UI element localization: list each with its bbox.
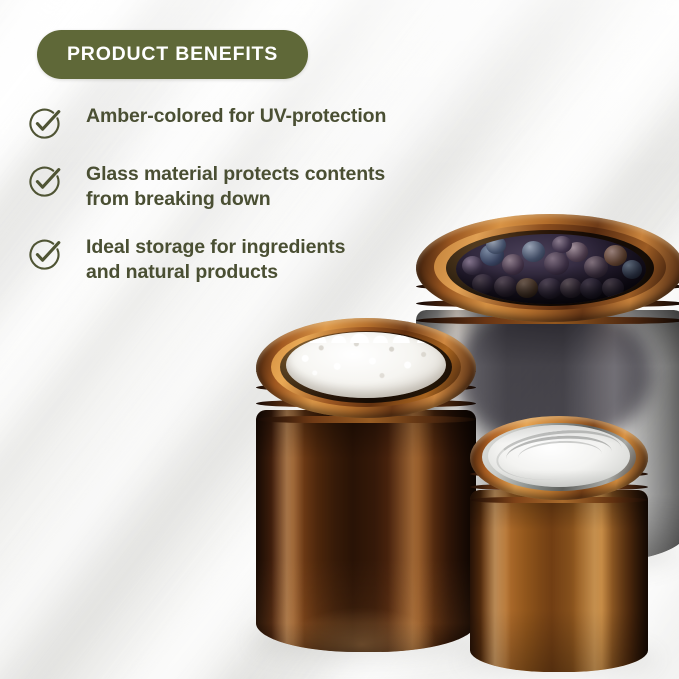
small-jar-with-cream (470, 416, 648, 672)
benefit-item: Ideal storage for ingredients and natura… (28, 235, 498, 286)
check-circle-icon (28, 106, 62, 140)
product-benefits-graphic: PRODUCT BENEFITS Amber-colored for UV-pr… (0, 0, 679, 679)
jar-body-glass (470, 490, 648, 672)
jar-body-shading (256, 410, 476, 652)
cream-shading (488, 425, 630, 487)
benefit-text: Ideal storage for ingredients and natura… (86, 235, 345, 286)
jar-body-highlight (470, 490, 648, 672)
benefits-list: Amber-colored for UV-protection Glass ma… (28, 104, 498, 307)
cream-fill (488, 425, 630, 487)
salt-crest (286, 332, 446, 343)
product-benefits-badge: PRODUCT BENEFITS (37, 30, 308, 79)
jar-body-shading (470, 490, 648, 672)
jar-body-highlight (256, 410, 476, 652)
benefit-item: Glass material protects contents from br… (28, 162, 498, 213)
check-circle-icon (28, 237, 62, 271)
badge-label: PRODUCT BENEFITS (67, 43, 278, 66)
medium-jar-with-salt (256, 318, 476, 652)
benefit-text: Glass material protects contents from br… (86, 162, 385, 213)
check-circle-icon (28, 164, 62, 198)
salt-fill (286, 332, 446, 398)
benefit-item: Amber-colored for UV-protection (28, 104, 498, 140)
benefit-text: Amber-colored for UV-protection (86, 104, 386, 129)
jar-body-glass (256, 410, 476, 652)
